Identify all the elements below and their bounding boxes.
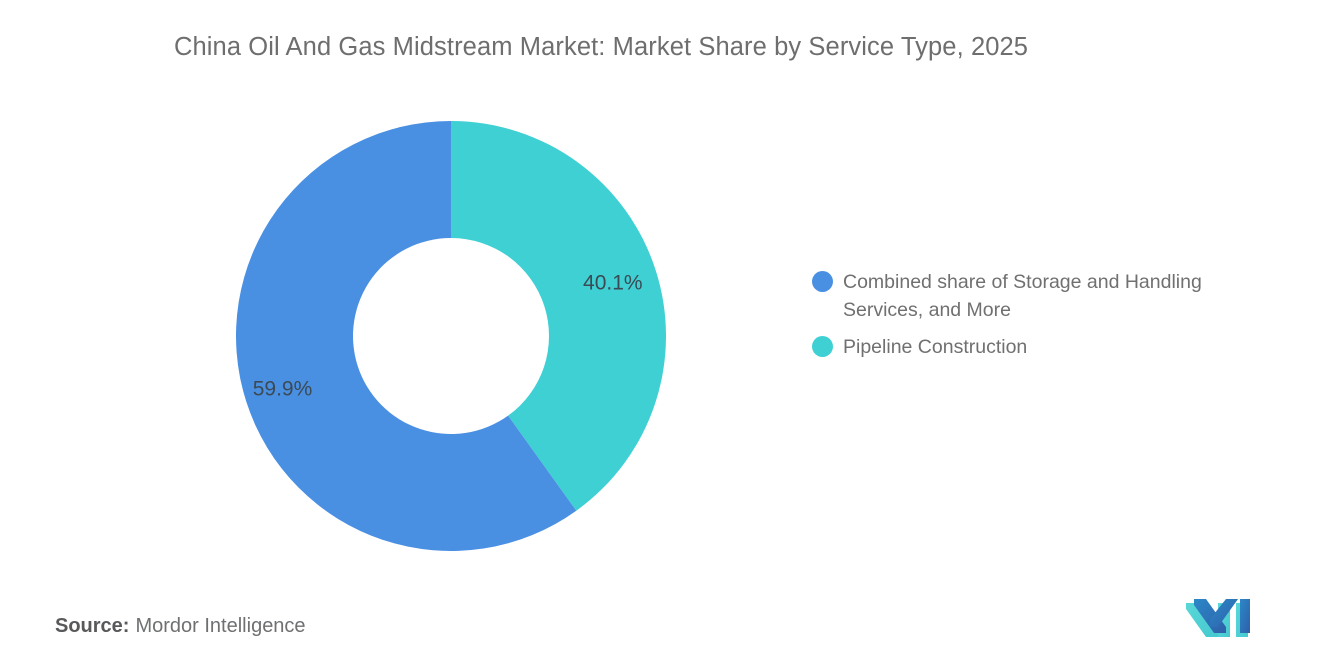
legend-item-label: Pipeline Construction: [843, 333, 1027, 361]
page-title: China Oil And Gas Midstream Market: Mark…: [174, 31, 1234, 63]
legend-item-combined-share[interactable]: Combined share of Storage and Handling S…: [812, 268, 1282, 324]
source-attribution: Source:Mordor Intelligence: [55, 612, 306, 640]
legend-color-swatch-blue-icon: [812, 271, 833, 292]
donut-slices: [236, 121, 666, 551]
chart-canvas: China Oil And Gas Midstream Market: Mark…: [0, 0, 1320, 665]
legend-item-pipeline-construction[interactable]: Pipeline Construction: [812, 333, 1282, 361]
slice-label-blue: 59.9%: [253, 378, 313, 401]
donut-chart: 59.9% 40.1%: [236, 121, 666, 551]
mordor-intelligence-logo-icon: [1184, 597, 1252, 637]
chart-legend: Combined share of Storage and Handling S…: [812, 268, 1282, 370]
source-name: Mordor Intelligence: [135, 615, 305, 637]
source-label: Source:: [55, 615, 129, 637]
legend-item-label: Combined share of Storage and Handling S…: [843, 268, 1261, 324]
logo-svg: [1184, 597, 1252, 637]
donut-chart-svg: 59.9% 40.1%: [236, 121, 666, 551]
slice-label-teal: 40.1%: [583, 272, 643, 295]
legend-color-swatch-teal-icon: [812, 336, 833, 357]
